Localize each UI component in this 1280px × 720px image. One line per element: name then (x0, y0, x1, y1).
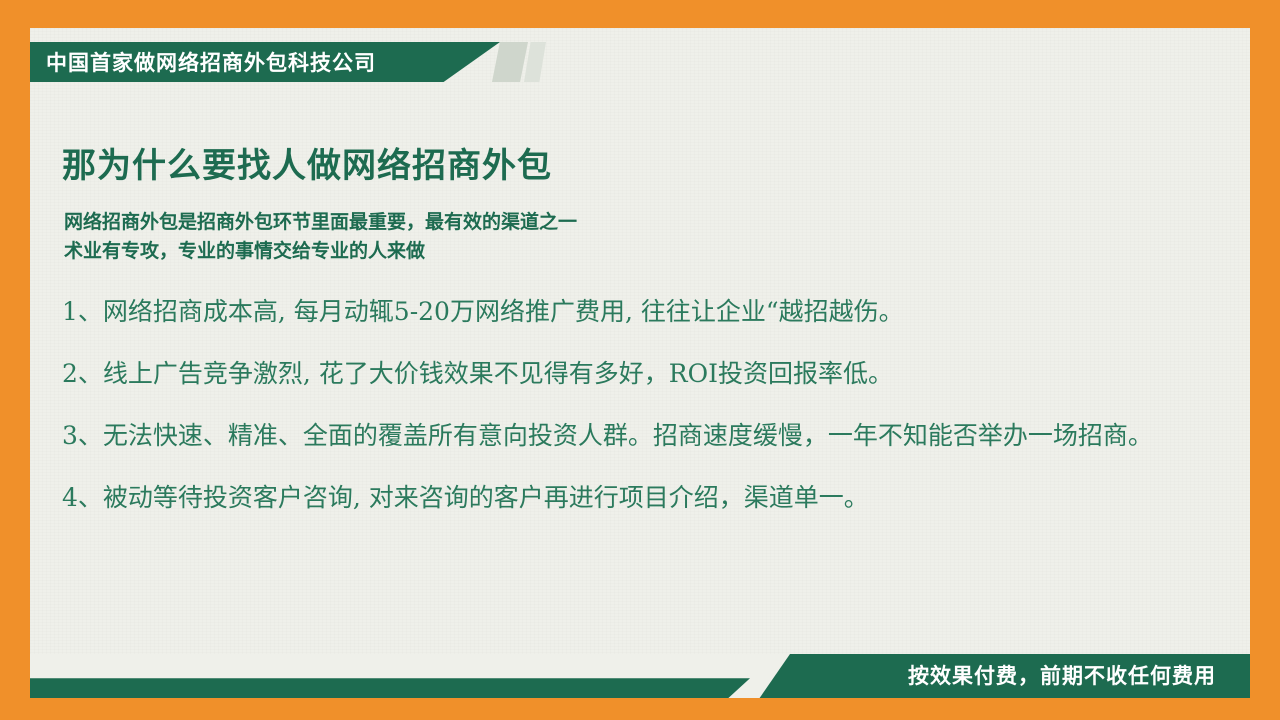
footer-label: 按效果付费，前期不收任何费用 (908, 660, 1216, 690)
page-title: 那为什么要找人做网络招商外包 (62, 138, 552, 187)
list-item: 4、被动等待投资客户咨询, 对来咨询的客户再进行项目介绍，渠道单一。 (62, 478, 1182, 518)
slide-root: 中国首家做网络招商外包科技公司 那为什么要找人做网络招商外包 网络招商外包是招商… (0, 0, 1280, 720)
body-point-list: 1、网络招商成本高, 每月动辄5-20万网络推广费用, 往往让企业“越招越伤。 … (62, 292, 1182, 540)
subtitle-block: 网络招商外包是招商外包环节里面最重要，最有效的渠道之一 术业有专攻，专业的事情交… (64, 208, 577, 266)
subtitle-line-1: 网络招商外包是招商外包环节里面最重要，最有效的渠道之一 (64, 208, 577, 237)
list-item: 3、无法快速、精准、全面的覆盖所有意向投资人群。招商速度缓慢，一年不知能否举办一… (62, 416, 1182, 456)
header-ribbon: 中国首家做网络招商外包科技公司 (30, 42, 500, 82)
subtitle-line-2: 术业有专攻，专业的事情交给专业的人来做 (64, 237, 577, 266)
list-item: 1、网络招商成本高, 每月动辄5-20万网络推广费用, 往往让企业“越招越伤。 (62, 292, 1182, 332)
header-ribbon-label: 中国首家做网络招商外包科技公司 (46, 47, 376, 77)
list-item: 2、线上广告竞争激烈, 花了大价钱效果不见得有多好，ROI投资回报率低。 (62, 354, 1182, 394)
